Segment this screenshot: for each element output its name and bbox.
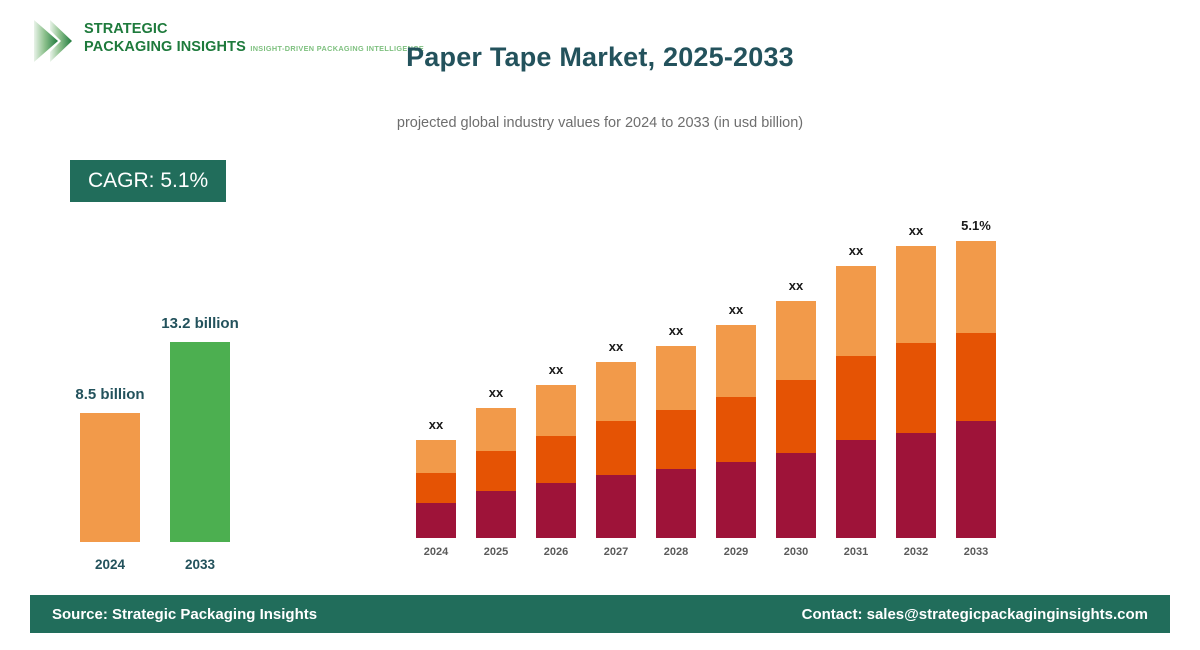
comparison-value-2033: 13.2 billion	[120, 315, 280, 332]
x-axis-label-2026: 2026	[526, 546, 586, 558]
x-axis-label-2032: 2032	[886, 546, 946, 558]
x-axis-label-2029: 2029	[706, 546, 766, 558]
bar-segment-segment-bottom-2030	[776, 453, 816, 538]
bar-value-label-2029: xx	[696, 302, 776, 317]
bar-value-label-2025: xx	[456, 385, 536, 400]
x-axis-label-2027: 2027	[586, 546, 646, 558]
footer-bar: Source: Strategic Packaging Insights Con…	[30, 595, 1170, 633]
bar-segment-segment-top-2032	[896, 246, 936, 343]
page-title: Paper Tape Market, 2025-2033	[0, 42, 1200, 73]
stacked-bar-2033	[956, 241, 996, 538]
infographic-canvas: STRATEGIC PACKAGING INSIGHTS INSIGHT-DRI…	[0, 0, 1200, 650]
bar-segment-segment-middle-2029	[716, 397, 756, 462]
stacked-bar-2032	[896, 246, 936, 538]
stacked-bar-2028	[656, 346, 696, 538]
comparison-year-2033: 2033	[140, 557, 260, 572]
x-axis-label-2024: 2024	[406, 546, 466, 558]
bar-segment-segment-middle-2025	[476, 451, 516, 491]
x-axis-label-2033: 2033	[946, 546, 1006, 558]
bar-value-label-2026: xx	[516, 362, 596, 377]
x-axis-label-2028: 2028	[646, 546, 706, 558]
comparison-bar-2033	[170, 342, 230, 542]
bar-segment-segment-bottom-2033	[956, 421, 996, 538]
bar-segment-segment-bottom-2024	[416, 503, 456, 538]
bar-value-label-2027: xx	[576, 339, 656, 354]
bar-segment-segment-top-2033	[956, 241, 996, 333]
bar-segment-segment-bottom-2025	[476, 491, 516, 538]
bar-value-label-2031: xx	[816, 243, 896, 258]
bar-segment-segment-top-2025	[476, 408, 516, 451]
bar-segment-segment-bottom-2031	[836, 440, 876, 538]
x-axis-label-2031: 2031	[826, 546, 886, 558]
bar-segment-segment-bottom-2028	[656, 469, 696, 538]
bar-segment-segment-top-2026	[536, 385, 576, 436]
comparison-bar-2024	[80, 413, 140, 542]
stacked-bar-2026	[536, 385, 576, 538]
stacked-bar-2025	[476, 408, 516, 538]
stacked-bar-2029	[716, 325, 756, 538]
bar-segment-segment-middle-2024	[416, 473, 456, 503]
bar-value-label-2033: 5.1%	[936, 218, 1016, 233]
footer-contact[interactable]: Contact: sales@strategicpackaginginsight…	[802, 606, 1148, 623]
x-axis-label-2025: 2025	[466, 546, 526, 558]
bar-segment-segment-bottom-2026	[536, 483, 576, 538]
footer-source: Source: Strategic Packaging Insights	[52, 606, 317, 623]
bar-segment-segment-middle-2030	[776, 380, 816, 453]
bar-value-label-2024: xx	[396, 417, 476, 432]
stacked-bar-2030	[776, 301, 816, 538]
bar-value-label-2028: xx	[636, 323, 716, 338]
bar-segment-segment-bottom-2032	[896, 433, 936, 538]
stacked-bar-2031	[836, 266, 876, 538]
bar-segment-segment-middle-2026	[536, 436, 576, 483]
comparison-value-2024: 8.5 billion	[30, 386, 190, 403]
bar-segment-segment-top-2029	[716, 325, 756, 397]
bar-segment-segment-top-2031	[836, 266, 876, 356]
page-subtitle: projected global industry values for 202…	[0, 115, 1200, 131]
bar-segment-segment-top-2028	[656, 346, 696, 410]
bar-segment-segment-middle-2027	[596, 421, 636, 475]
bar-segment-segment-top-2027	[596, 362, 636, 421]
bar-segment-segment-middle-2033	[956, 333, 996, 421]
bar-segment-segment-bottom-2029	[716, 462, 756, 538]
stacked-bar-2027	[596, 362, 636, 538]
bar-value-label-2030: xx	[756, 278, 836, 293]
bar-segment-segment-top-2030	[776, 301, 816, 380]
bar-segment-segment-bottom-2027	[596, 475, 636, 538]
stacked-bar-2024	[416, 440, 456, 538]
bar-segment-segment-top-2024	[416, 440, 456, 473]
bar-segment-segment-middle-2028	[656, 410, 696, 469]
cagr-badge: CAGR: 5.1%	[70, 160, 226, 202]
forecast-stacked-bar-chart: xx2024xx2025xx2026xx2027xx2028xx2029xx20…	[400, 190, 1020, 560]
x-axis-label-2030: 2030	[766, 546, 826, 558]
bar-segment-segment-middle-2032	[896, 343, 936, 433]
bar-segment-segment-middle-2031	[836, 356, 876, 440]
comparison-chart: 8.5 billion202413.2 billion2033	[60, 300, 320, 580]
